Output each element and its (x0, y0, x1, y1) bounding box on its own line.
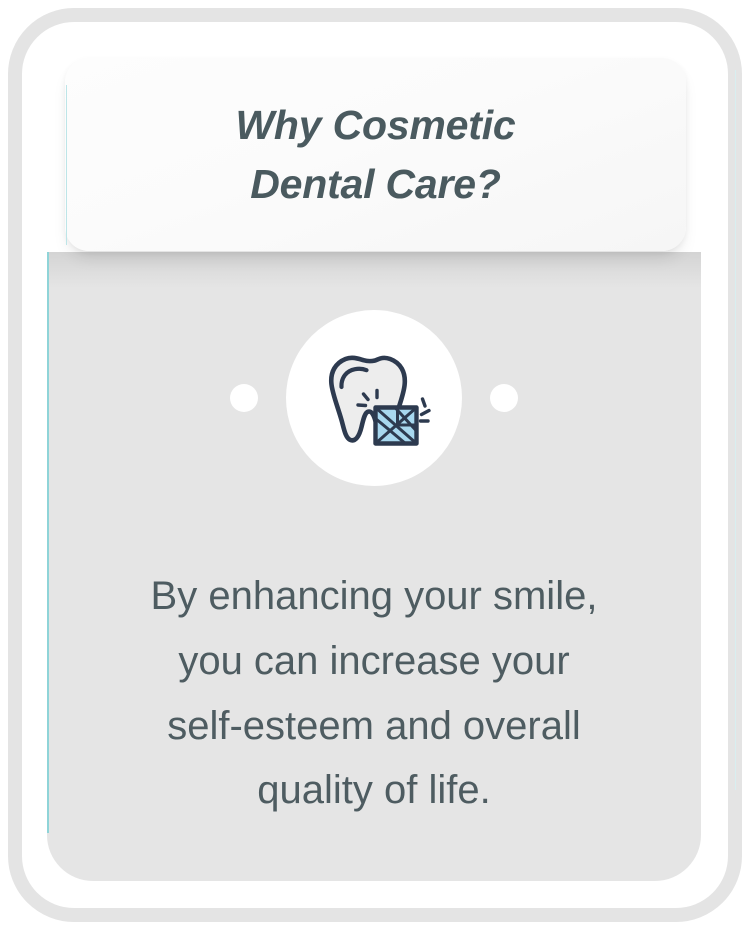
card-widget-root: By enhancing your smile, you can increas… (0, 0, 750, 930)
decorative-dot-right (490, 384, 518, 412)
icon-circle-background (286, 310, 462, 486)
card-body-text: By enhancing your smile, you can increas… (75, 564, 673, 823)
decorative-dot-left (230, 384, 258, 412)
accent-line-top-left (66, 85, 67, 245)
tooth-with-diamond-icon (315, 339, 433, 457)
card-top-shadow (47, 252, 701, 288)
card-title: Why Cosmetic Dental Care? (205, 96, 545, 212)
icon-row (47, 308, 701, 488)
content-card: By enhancing your smile, you can increas… (47, 252, 701, 881)
accent-line-left (47, 252, 49, 833)
accent-line-right (735, 70, 736, 790)
title-card: Why Cosmetic Dental Care? (65, 58, 686, 251)
